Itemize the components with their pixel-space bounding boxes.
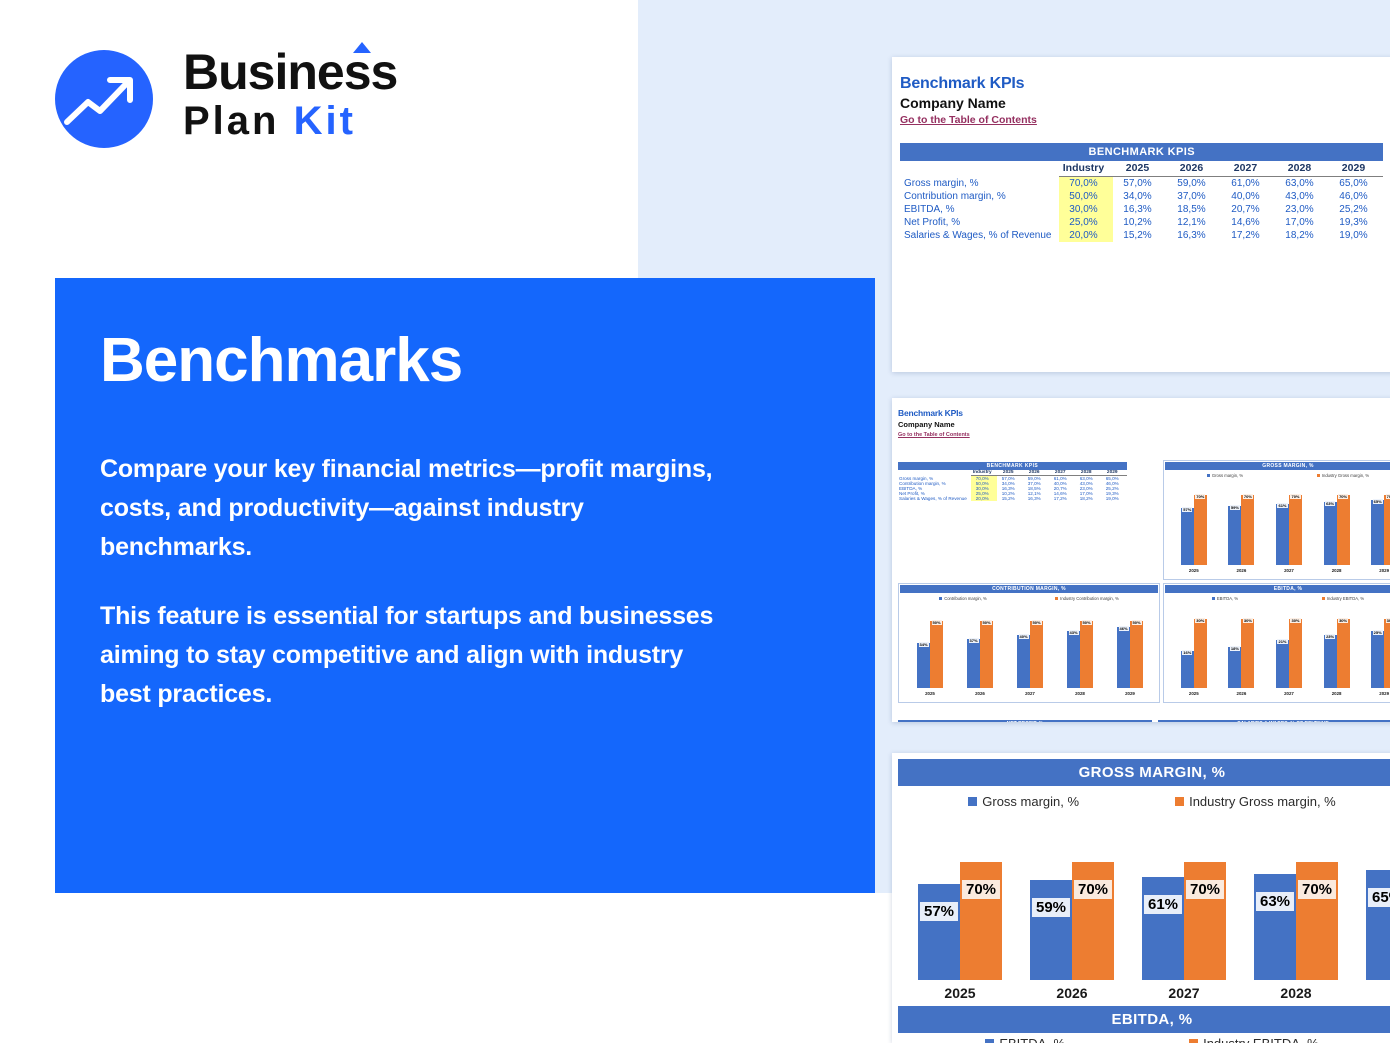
bar-data-label: 65% — [1368, 888, 1390, 907]
mini-axis-tick-label: 2029 — [1125, 691, 1135, 701]
cell-industry: 20,0% — [1059, 229, 1113, 242]
cell-2026: 18,5% — [1167, 203, 1221, 216]
cell-industry: 70,0% — [1059, 177, 1113, 191]
legend-swatch-orange — [1322, 597, 1325, 600]
cell-2029: 19,0% — [1329, 229, 1383, 242]
mini-bar-group: 61%70% — [1276, 485, 1302, 565]
mini-axis-tick-label: 2027 — [1025, 691, 1035, 701]
hero-panel: Benchmarks Compare your key financial me… — [55, 278, 875, 893]
mini-axis-tick-label: 2025 — [1189, 691, 1199, 701]
mini-bar-data-label: 57% — [1182, 507, 1192, 512]
bar-group: 59%70% — [1030, 845, 1114, 980]
mini-bar-data-label: 50% — [1131, 620, 1141, 625]
legend-label-series2: Industry Contribution margin, % — [1060, 596, 1119, 601]
mini-bar-group: 46%50% — [1117, 608, 1143, 688]
legend-entry-series1: Gross margin, % — [1207, 473, 1243, 478]
mini-axis-tick-label: 2029 — [1379, 691, 1389, 701]
mini-bar-data-label: 70% — [1195, 494, 1205, 499]
mini-bar-company: 18% — [1228, 647, 1241, 688]
column-header-2027: 2027 — [1221, 161, 1275, 177]
mini-chart-net-profit[interactable]: NET PROFIT, % Net Profit, % Industry Net… — [898, 720, 1152, 722]
bar-company-gross-margin: 59% — [1030, 880, 1072, 980]
mini-plot-area: 34%50%37%50%40%50%43%50%46%50% — [905, 608, 1155, 688]
mini-bar-group: 21%30% — [1276, 608, 1302, 688]
legend-entry-ebitda: EBITDA, % — [985, 1036, 1065, 1043]
mini-chart-legend: Gross margin, % Industry Gross margin, % — [1164, 471, 1390, 478]
mini-bar-company: 34% — [917, 643, 930, 688]
cell-2027: 14,6% — [1221, 216, 1275, 229]
legend-entry-industry-ebitda: Industry EBITDA, % — [1189, 1036, 1319, 1043]
chart-legend-ebitda: EBITDA, % Industry EBITDA, % — [892, 1036, 1390, 1043]
mini-plot-area: 57%70%59%70%61%70%63%70%65%70% — [1170, 485, 1390, 565]
mini-bar-data-label: 50% — [981, 620, 991, 625]
column-header-2028: 2028 — [1275, 161, 1329, 177]
mini-bar-group: 37%50% — [967, 608, 993, 688]
mini-charts-grid: BENCHMARK KPIS Industry 2025 2026 2027 2… — [898, 460, 1390, 718]
page-title: Benchmarks — [100, 326, 823, 396]
legend-swatch-orange — [1317, 474, 1320, 477]
row-label: EBITDA, % — [900, 203, 1059, 216]
cell-2026: 59,0% — [1167, 177, 1221, 191]
bar-company-gross-margin: 61% — [1142, 877, 1184, 980]
mini-bar-data-label: 65% — [1373, 499, 1383, 504]
mini-chart-title: GROSS MARGIN, % — [1165, 462, 1390, 470]
table-row: Net Profit, %25,0%10,2%12,1%14,6%17,0%19… — [900, 216, 1383, 229]
mini-bar-industry: 70% — [1241, 495, 1254, 565]
mini-axis-tick-label: 2028 — [1332, 691, 1342, 701]
mini-axis-tick-label: 2028 — [1075, 691, 1085, 701]
legend-swatch-orange — [1189, 1039, 1198, 1043]
mini-bar-data-label: 30% — [1290, 618, 1300, 623]
bar-company-gross-margin: 57% — [918, 884, 960, 980]
table-band-header: BENCHMARK KPIS — [900, 143, 1383, 161]
brand-logo: Business Plan Kit — [55, 46, 475, 156]
mini-cell-2028: 18,2% — [1075, 496, 1101, 501]
mini-bar-data-label: 30% — [1386, 618, 1390, 623]
sheet-title: Benchmark KPIs — [900, 75, 1390, 93]
cell-2025: 57,0% — [1113, 177, 1167, 191]
bar-company-gross-margin: 65% — [1366, 870, 1390, 980]
bar-data-label: 59% — [1032, 898, 1070, 917]
mini-chart-gross-margin[interactable]: GROSS MARGIN, % Gross margin, % Industry… — [1163, 460, 1390, 580]
bar-group: 61%70% — [1142, 845, 1226, 980]
cell-2029: 19,3% — [1329, 216, 1383, 229]
mini-axis-tick-label: 2029 — [1379, 568, 1389, 578]
mini-sheet-title: Benchmark KPIs — [898, 408, 1390, 418]
cell-2026: 16,3% — [1167, 229, 1221, 242]
mini-cell-2027: 17,2% — [1049, 496, 1075, 501]
mini-bar-data-label: 59% — [1230, 505, 1240, 510]
row-label: Salaries & Wages, % of Revenue — [900, 229, 1059, 242]
cell-2027: 17,2% — [1221, 229, 1275, 242]
cell-2028: 23,0% — [1275, 203, 1329, 216]
mini-axis-tick-label: 2027 — [1284, 691, 1294, 701]
mini-bar-company: 16% — [1181, 651, 1194, 688]
mini-chart-ebitda[interactable]: EBITDA, % EBITDA, % Industry EBITDA, % 1… — [1163, 583, 1390, 703]
cell-2027: 61,0% — [1221, 177, 1275, 191]
table-of-contents-link[interactable]: Go to the Table of Contents — [900, 114, 1390, 126]
mini-bar-data-label: 70% — [1290, 494, 1300, 499]
legend-label-industry-ebitda: Industry EBITDA, % — [1203, 1036, 1319, 1043]
legend-entry-series2: Industry Contribution margin, % — [1055, 596, 1119, 601]
mini-bar-group: 25%30% — [1371, 608, 1390, 688]
mini-bar-data-label: 16% — [1182, 650, 1192, 655]
mini-bar-group: 43%50% — [1067, 608, 1093, 688]
chart-x-axis-gross-margin: 20252026202720282029 — [902, 985, 1390, 1005]
cell-2028: 63,0% — [1275, 177, 1329, 191]
legend-label-series2: Industry Gross margin, % — [1322, 473, 1369, 478]
mini-chart-title: EBITDA, % — [1165, 585, 1390, 593]
cell-2028: 18,2% — [1275, 229, 1329, 242]
bar-industry-gross-margin: 70% — [1184, 862, 1226, 980]
column-header-2026: 2026 — [1167, 161, 1221, 177]
mini-table-band-header: BENCHMARK KPIS — [898, 462, 1127, 470]
legend-entry-gross-margin: Gross margin, % — [968, 794, 1079, 809]
cell-2025: 10,2% — [1113, 216, 1167, 229]
cell-2026: 37,0% — [1167, 190, 1221, 203]
sheet-company-name: Company Name — [900, 95, 1390, 111]
cell-industry: 25,0% — [1059, 216, 1113, 229]
mini-sheet-company-name: Company Name — [898, 420, 1390, 429]
legend-label-series1: Contribution margin, % — [944, 596, 987, 601]
mini-bar-company: 61% — [1276, 504, 1289, 565]
legend-label-series1: EBITDA, % — [1217, 596, 1238, 601]
table-row: Salaries & Wages, % of Revenue20,0%15,2%… — [900, 229, 1383, 242]
mini-bar-data-label: 70% — [1338, 494, 1348, 499]
legend-swatch-blue — [985, 1039, 994, 1043]
mini-axis-tick-label: 2025 — [1189, 568, 1199, 578]
mini-bar-data-label: 70% — [1243, 494, 1253, 499]
bar-data-label: 61% — [1144, 895, 1182, 914]
mini-bar-data-label: 70% — [1386, 494, 1390, 499]
mini-bar-industry: 50% — [1080, 621, 1093, 688]
bar-data-label: 57% — [920, 902, 958, 921]
mini-bar-industry: 30% — [1194, 619, 1207, 688]
benchmark-dashboard-panel: Benchmark KPIs Company Name Go to the Ta… — [892, 398, 1390, 722]
bar-industry-gross-margin: 70% — [1296, 862, 1338, 980]
mini-bar-data-label: 50% — [931, 620, 941, 625]
mini-bar-industry: 30% — [1241, 619, 1254, 688]
hero-paragraph-1: Compare your key financial metrics—profi… — [100, 450, 740, 567]
cell-2029: 65,0% — [1329, 177, 1383, 191]
mini-bar-data-label: 23% — [1325, 634, 1335, 639]
mini-bar-group: 57%70% — [1181, 485, 1207, 565]
mini-bar-industry: 50% — [1130, 621, 1143, 688]
mini-bar-data-label: 61% — [1277, 503, 1287, 508]
mini-bar-group: 65%70% — [1371, 485, 1390, 565]
bar-company-gross-margin: 63% — [1254, 874, 1296, 980]
brand-name-line2: Plan Kit — [183, 98, 397, 144]
mini-bar-company: 65% — [1371, 500, 1384, 565]
mini-bar-data-label: 34% — [918, 642, 928, 647]
bar-industry-gross-margin: 70% — [960, 862, 1002, 980]
mini-bar-data-label: 30% — [1338, 618, 1348, 623]
legend-entry-series2: Industry EBITDA, % — [1322, 596, 1364, 601]
mini-bar-industry: 70% — [1289, 495, 1302, 565]
mini-axis-tick-label: 2027 — [1284, 568, 1294, 578]
mini-bar-company: 59% — [1228, 506, 1241, 565]
mini-cell-2025: 15,2% — [997, 496, 1023, 501]
mini-bar-company: 37% — [967, 639, 980, 688]
mini-bar-industry: 50% — [930, 621, 943, 688]
mini-chart-title: NET PROFIT, % — [898, 720, 1152, 722]
mini-bar-industry: 50% — [980, 621, 993, 688]
mini-chart-legend: Contribution margin, % Industry Contribu… — [899, 594, 1159, 601]
row-label-header — [900, 161, 1059, 177]
mini-chart-title: CONTRIBUTION MARGIN, % — [900, 585, 1158, 593]
cell-2025: 16,3% — [1113, 203, 1167, 216]
mini-bar-company: 40% — [1017, 635, 1030, 688]
bar-group: 65%70% — [1366, 845, 1390, 980]
bar-data-label: 70% — [962, 880, 1000, 899]
mini-chart-title: SALARIES & WAGES, % OF REVENUE — [1158, 720, 1390, 722]
mini-bar-data-label: 18% — [1230, 646, 1240, 651]
cell-2026: 12,1% — [1167, 216, 1221, 229]
table-row: Gross margin, %70,0%57,0%59,0%61,0%63,0%… — [900, 177, 1383, 191]
mini-axis-tick-label: 2026 — [1237, 691, 1247, 701]
mini-cell-2026: 16,3% — [1023, 496, 1049, 501]
mini-bar-group: 40%50% — [1017, 608, 1043, 688]
gross-margin-chart-panel: GROSS MARGIN, % Gross margin, % Industry… — [892, 753, 1390, 1043]
mini-bar-company: 25% — [1371, 631, 1384, 688]
legend-swatch-orange — [1055, 597, 1058, 600]
mini-chart-salaries-wages[interactable]: SALARIES & WAGES, % OF REVENUE Salaries … — [1158, 720, 1390, 722]
mini-cell-2029: 19,0% — [1101, 496, 1127, 501]
mini-benchmark-kpis-table: BENCHMARK KPIS Industry 2025 2026 2027 2… — [898, 462, 1127, 501]
mini-bar-data-label: 30% — [1195, 618, 1205, 623]
mini-axis-tick-label: 2028 — [1332, 568, 1342, 578]
legend-label-gross-margin: Gross margin, % — [982, 794, 1079, 809]
bar-data-label: 70% — [1298, 880, 1336, 899]
cell-2025: 15,2% — [1113, 229, 1167, 242]
mini-chart-contribution-margin[interactable]: CONTRIBUTION MARGIN, % Contribution marg… — [898, 583, 1160, 703]
legend-entry-series2: Industry Gross margin, % — [1317, 473, 1369, 478]
cell-2027: 40,0% — [1221, 190, 1275, 203]
row-label: Gross margin, % — [900, 177, 1059, 191]
mini-row-label: Salaries & Wages, % of Revenue — [898, 496, 971, 501]
cell-2029: 25,2% — [1329, 203, 1383, 216]
legend-swatch-orange — [1175, 797, 1184, 806]
mini-bar-company: 43% — [1067, 631, 1080, 688]
legend-entry-series1: Contribution margin, % — [939, 596, 987, 601]
mini-cell-industry: 20,0% — [971, 496, 997, 501]
legend-label-industry-gross-margin: Industry Gross margin, % — [1189, 794, 1336, 809]
bar-data-label: 70% — [1186, 880, 1224, 899]
mini-bar-data-label: 50% — [1031, 620, 1041, 625]
growth-arrow-icon — [55, 50, 153, 148]
chart-plot-area-gross-margin: 57%70%59%70%61%70%63%70%65%70% — [902, 845, 1390, 980]
chart-title-gross-margin: GROSS MARGIN, % — [898, 759, 1390, 786]
legend-swatch-blue — [1207, 474, 1210, 477]
column-header-industry: Industry — [1059, 161, 1113, 177]
mini-bar-industry: 30% — [1384, 619, 1390, 688]
bar-data-label: 63% — [1256, 892, 1294, 911]
mini-bar-group: 34%50% — [917, 608, 943, 688]
benchmark-kpis-table: BENCHMARK KPIS Industry 2025 2026 2027 2… — [900, 143, 1383, 242]
cell-2028: 17,0% — [1275, 216, 1329, 229]
mini-bar-company: 57% — [1181, 508, 1194, 565]
legend-swatch-blue — [939, 597, 942, 600]
cell-industry: 50,0% — [1059, 190, 1113, 203]
mini-bar-data-label: 40% — [1018, 634, 1028, 639]
brand-name-line1: Business — [183, 46, 397, 98]
mini-bar-group: 23%30% — [1324, 608, 1350, 688]
mini-bar-industry: 30% — [1337, 619, 1350, 688]
row-label: Net Profit, % — [900, 216, 1059, 229]
hero-paragraph-2: This feature is essential for startups a… — [100, 597, 740, 714]
column-header-2029: 2029 — [1329, 161, 1383, 177]
mini-bar-industry: 30% — [1289, 619, 1302, 688]
bar-group: 63%70% — [1254, 845, 1338, 980]
mini-axis-tick-label: 2026 — [975, 691, 985, 701]
axis-tick-label: 2028 — [1254, 985, 1338, 1005]
mini-axis-tick-label: 2026 — [1237, 568, 1247, 578]
mini-bar-company: 63% — [1324, 502, 1337, 565]
mini-x-axis: 20252026202720282029 — [1170, 568, 1390, 578]
mini-bar-industry: 70% — [1337, 495, 1350, 565]
table-header-row: Industry 2025 2026 2027 2028 2029 — [900, 161, 1383, 177]
cell-2028: 43,0% — [1275, 190, 1329, 203]
cell-2025: 34,0% — [1113, 190, 1167, 203]
benchmark-kpis-sheet-panel: Benchmark KPIs Company Name Go to the Ta… — [892, 57, 1390, 372]
chart-legend-gross-margin: Gross margin, % Industry Gross margin, % — [892, 786, 1390, 809]
table-row: Contribution margin, %50,0%34,0%37,0%40,… — [900, 190, 1383, 203]
mini-bar-company: 46% — [1117, 627, 1130, 688]
mini-bar-group: 16%30% — [1181, 608, 1207, 688]
axis-tick-label: 2025 — [918, 985, 1002, 1005]
bar-group: 57%70% — [918, 845, 1002, 980]
brand-name-kit: Kit — [294, 99, 356, 143]
legend-swatch-blue — [1212, 597, 1215, 600]
cell-2027: 20,7% — [1221, 203, 1275, 216]
mini-bar-data-label: 50% — [1081, 620, 1091, 625]
column-header-2025: 2025 — [1113, 161, 1167, 177]
mini-bar-data-label: 30% — [1243, 618, 1253, 623]
cell-2029: 46,0% — [1329, 190, 1383, 203]
mini-axis-tick-label: 2025 — [925, 691, 935, 701]
legend-label-ebitda: EBITDA, % — [999, 1036, 1065, 1043]
mini-bar-group: 18%30% — [1228, 608, 1254, 688]
mini-bar-data-label: 43% — [1068, 630, 1078, 635]
mini-bar-data-label: 21% — [1277, 639, 1287, 644]
mini-bar-group: 63%70% — [1324, 485, 1350, 565]
mini-bar-industry: 70% — [1194, 495, 1207, 565]
mini-bar-data-label: 25% — [1373, 630, 1383, 635]
mini-bar-data-label: 46% — [1118, 626, 1128, 631]
bar-data-label: 70% — [1074, 880, 1112, 899]
axis-tick-label: 2026 — [1030, 985, 1114, 1005]
legend-entry-industry-gross-margin: Industry Gross margin, % — [1175, 794, 1336, 809]
legend-entry-series1: EBITDA, % — [1212, 596, 1238, 601]
axis-tick-label: 2027 — [1142, 985, 1226, 1005]
table-row: EBITDA, %30,0%16,3%18,5%20,7%23,0%25,2% — [900, 203, 1383, 216]
mini-bar-industry: 70% — [1384, 495, 1390, 565]
mini-chart-legend: EBITDA, % Industry EBITDA, % — [1164, 594, 1390, 601]
mini-table-of-contents-link[interactable]: Go to the Table of Contents — [898, 432, 1390, 438]
mini-bar-group: 59%70% — [1228, 485, 1254, 565]
axis-tick-label: 2029 — [1366, 985, 1390, 1005]
row-label: Contribution margin, % — [900, 190, 1059, 203]
caret-accent-icon — [353, 42, 371, 53]
cell-industry: 30,0% — [1059, 203, 1113, 216]
mini-bar-data-label: 37% — [968, 638, 978, 643]
mini-plot-area: 16%30%18%30%21%30%23%30%25%30% — [1170, 608, 1390, 688]
chart-title-ebitda: EBITDA, % — [898, 1006, 1390, 1033]
mini-x-axis: 20252026202720282029 — [905, 691, 1155, 701]
legend-label-series1: Gross margin, % — [1212, 473, 1243, 478]
mini-bar-company: 23% — [1324, 635, 1337, 688]
mini-table-row: Salaries & Wages, % of Revenue20,0%15,2%… — [898, 496, 1127, 501]
mini-bar-company: 21% — [1276, 640, 1289, 688]
mini-kpi-table-cell: BENCHMARK KPIS Industry 2025 2026 2027 2… — [898, 460, 1160, 580]
legend-swatch-blue — [968, 797, 977, 806]
brand-name-plan: Plan — [183, 99, 279, 143]
bar-industry-gross-margin: 70% — [1072, 862, 1114, 980]
legend-label-series2: Industry EBITDA, % — [1327, 596, 1364, 601]
mini-bar-industry: 50% — [1030, 621, 1043, 688]
mini-x-axis: 20252026202720282029 — [1170, 691, 1390, 701]
mini-bar-data-label: 63% — [1325, 501, 1335, 506]
